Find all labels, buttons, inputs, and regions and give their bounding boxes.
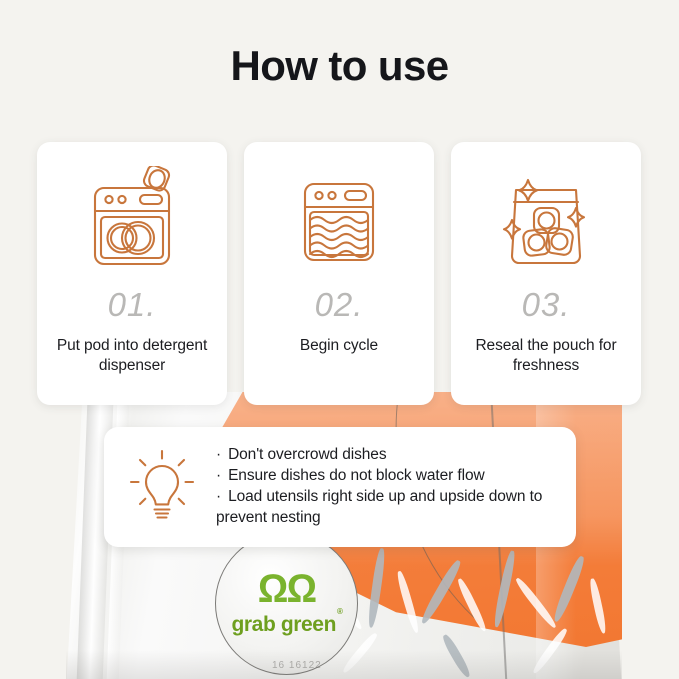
step-text-2: Begin cycle [296,336,382,356]
tips-card[interactable]: ·Don't overcrowd dishes ·Ensure dishes d… [104,427,576,547]
page-title: How to use [0,42,679,90]
tip-bullet: · [216,446,221,463]
tip-text-2: Ensure dishes do not block water flow [228,467,485,484]
tip-item-3: ·Load utensils right side up and upside … [216,487,556,529]
how-to-use-page: ΩΩ grab green® 16 16122 How to use [0,0,679,679]
step-text-1: Put pod into detergent dispenser [47,336,217,377]
step-number-2: 02. [315,286,364,324]
step-text-3: Reseal the pouch for freshness [461,336,631,377]
tip-text-3: Load utensils right side up and upside d… [216,488,542,526]
tip-text-1: Don't overcrowd dishes [228,446,386,463]
step-card-3[interactable]: 03. Reseal the pouch for freshness [451,142,641,405]
dishwasher-with-pod-icon [76,164,188,280]
tip-item-2: ·Ensure dishes do not block water flow [216,466,556,487]
step-number-3: 03. [522,286,571,324]
tip-item-1: ·Don't overcrowd dishes [216,445,556,466]
step-card-1[interactable]: 01. Put pod into detergent dispenser [37,142,227,405]
tips-list: ·Don't overcrowd dishes ·Ensure dishes d… [216,445,556,529]
brand-name: grab green® [231,613,341,637]
tip-bullet: · [216,467,221,484]
grab-green-sprout-icon: ΩΩ [258,571,315,607]
pouch-bottom-shadow [66,650,622,679]
lightbulb-icon [126,449,198,525]
dishwasher-running-icon [283,164,395,280]
step-number-1: 01. [108,286,157,324]
step-card-2[interactable]: 02. Begin cycle [244,142,434,405]
resealable-pouch-icon [490,164,602,280]
tip-bullet: · [216,488,221,505]
steps-row: 01. Put pod into detergent dispenser [37,142,641,405]
pouch-serial-code: 16 16122 [272,660,322,671]
